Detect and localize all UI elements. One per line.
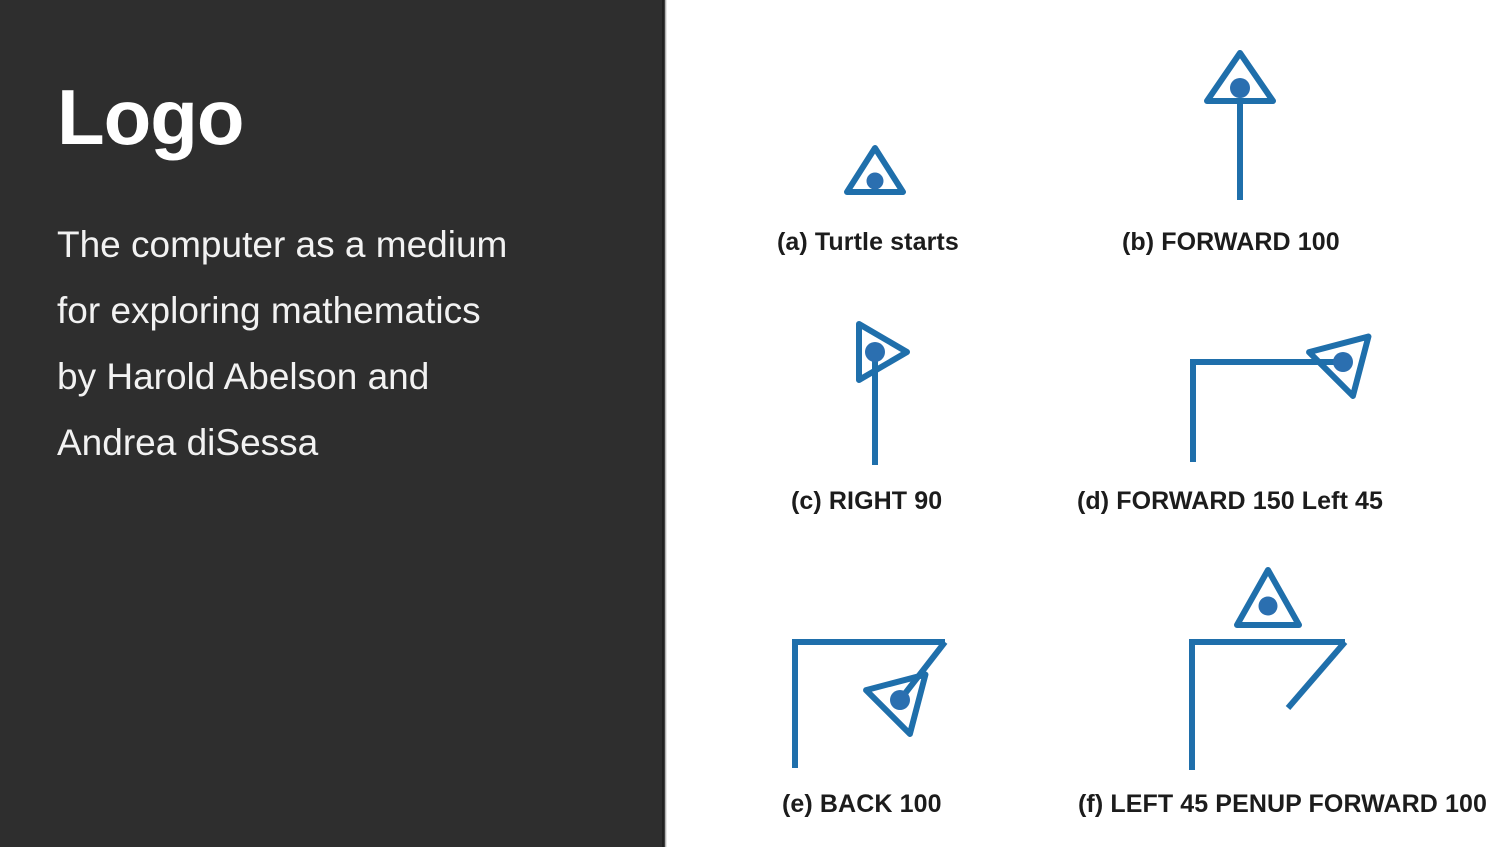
pen-trace-path: [1193, 362, 1343, 462]
panel-caption-c: (c) RIGHT 90: [791, 487, 942, 516]
subtitle-line-1: The computer as a medium: [57, 212, 627, 278]
panel-caption-e: (e) BACK 100: [782, 790, 942, 819]
figure-panel-d: (d) FORWARD 150 Left 45: [1077, 282, 1493, 564]
turtle-center-dot-icon: [1230, 78, 1250, 98]
turtle-center-dot-icon: [867, 173, 884, 190]
slide-subtitle: The computer as a medium for exploring m…: [57, 212, 627, 475]
panel-caption-d: (d) FORWARD 150 Left 45: [1077, 487, 1383, 516]
slide-canvas: Logo The computer as a medium for explor…: [0, 0, 1493, 847]
subtitle-line-3: by Harold Abelson and: [57, 344, 627, 410]
figure-panel-b: (b) FORWARD 100: [1077, 0, 1493, 282]
panel-caption-a: (a) Turtle starts: [777, 228, 959, 257]
figure-panel-c: (c) RIGHT 90: [667, 282, 1077, 564]
turtle-center-dot-icon: [1259, 597, 1278, 616]
pen-trace-back-line: [1288, 642, 1345, 708]
subtitle-line-2: for exploring mathematics: [57, 278, 627, 344]
pen-trace-path: [1192, 642, 1345, 770]
figure-panel-f: (f) LEFT 45 PENUP FORWARD 100: [1077, 564, 1493, 847]
pen-trace-path: [795, 642, 945, 768]
turtle-center-dot-icon: [890, 690, 910, 710]
turtle-figure-area: (a) Turtle starts (b) FORWARD 100: [667, 0, 1493, 847]
turtle-diagram-d: [1077, 282, 1493, 564]
turtle-diagram-c: [667, 282, 1077, 564]
panel-caption-f: (f) LEFT 45 PENUP FORWARD 100: [1078, 790, 1487, 819]
title-panel: Logo The computer as a medium for explor…: [0, 0, 662, 847]
figure-panel-a: (a) Turtle starts: [667, 0, 1077, 282]
turtle-center-dot-icon: [865, 342, 885, 362]
page-title: Logo: [57, 78, 244, 156]
subtitle-line-4: Andrea diSessa: [57, 410, 627, 476]
turtle-center-dot-icon: [1333, 352, 1353, 372]
figure-panel-e: (e) BACK 100: [667, 564, 1077, 847]
panel-caption-b: (b) FORWARD 100: [1122, 228, 1340, 257]
